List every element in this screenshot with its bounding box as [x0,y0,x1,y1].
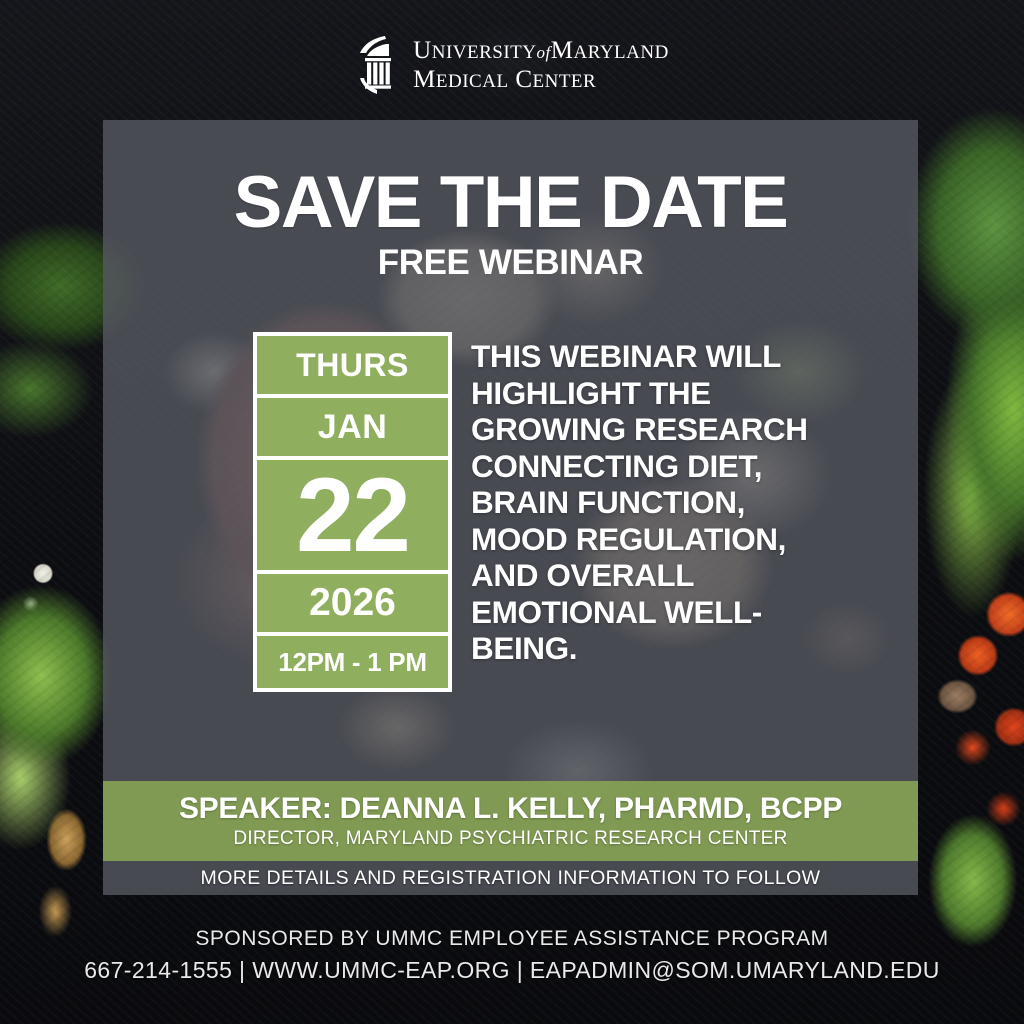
page-title: SAVE THE DATE [103,166,918,239]
brand-logo-text: UNIVERSITYofMARYLAND MEDICAL CENTER [413,38,669,92]
date-day-of-week: THURS [257,336,448,398]
footer: SPONSORED BY UMMC EMPLOYEE ASSISTANCE PR… [0,927,1024,984]
speaker-band: SPEAKER: DEANNA L. KELLY, PHARMD, BCPP D… [103,781,918,861]
brand-logo: UNIVERSITYofMARYLAND MEDICAL CENTER [0,34,1024,96]
date-time-range: 12PM - 1 PM [257,636,448,688]
brand-logo-line-2: MEDICAL CENTER [413,67,669,92]
more-details-text: MORE DETAILS AND REGISTRATION INFORMATIO… [201,867,821,890]
footer-contact: 667-214-1555 | WWW.UMMC-EAP.ORG | EAPADM… [0,957,1024,984]
speaker-title: DIRECTOR, MARYLAND PSYCHIATRIC RESEARCH … [233,828,787,850]
speaker-name: SPEAKER: DEANNA L. KELLY, PHARMD, BCPP [179,792,842,826]
more-details-strip: MORE DETAILS AND REGISTRATION INFORMATIO… [103,861,918,895]
date-day: 22 [257,460,448,574]
umd-column-dome-icon [355,34,399,96]
brand-logo-line-1: UNIVERSITYofMARYLAND [413,38,669,63]
event-date-block: THURS JAN 22 2026 12PM - 1 PM [253,332,452,692]
event-description: THIS WEBINAR WILL HIGHLIGHT THE GROWING … [471,338,841,667]
footer-sponsor: SPONSORED BY UMMC EMPLOYEE ASSISTANCE PR… [0,927,1024,951]
date-month: JAN [257,398,448,460]
date-year: 2026 [257,574,448,636]
page-subtitle: FREE WEBINAR [103,243,918,283]
